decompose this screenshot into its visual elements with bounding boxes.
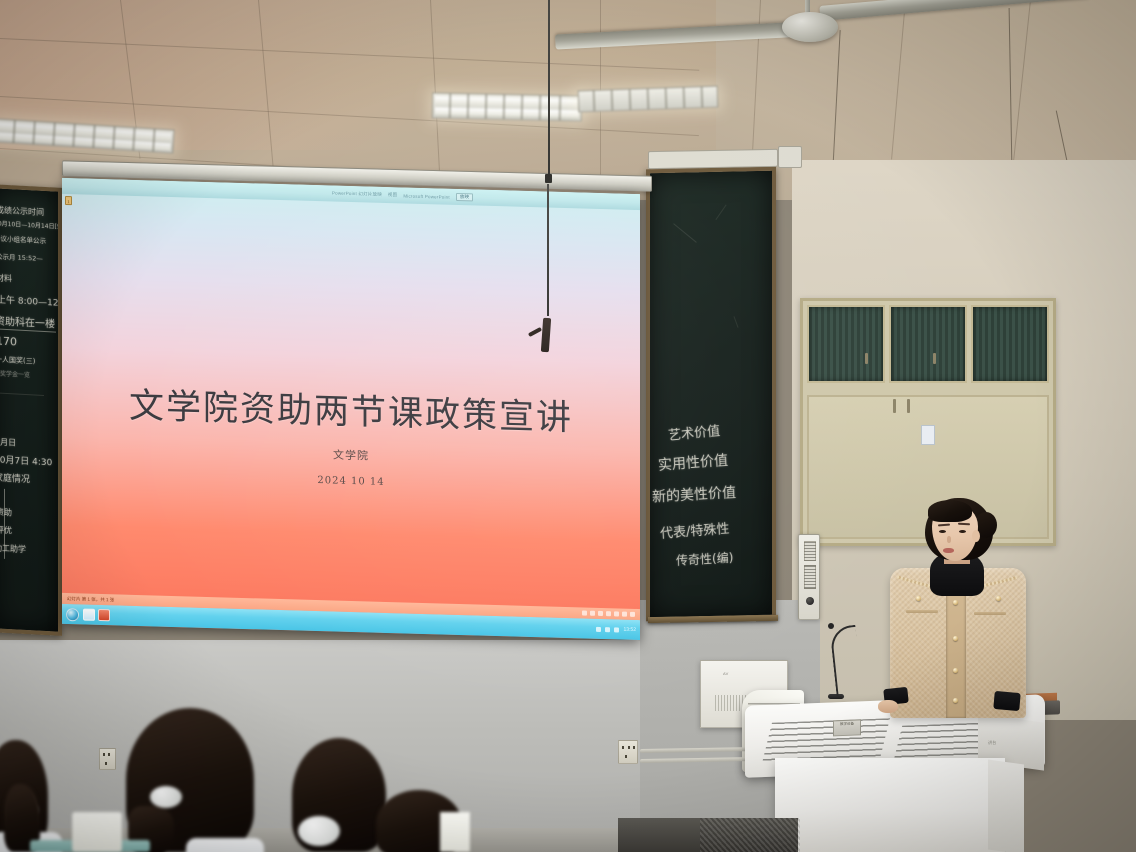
chalk-line: 评议小组名单公示 xyxy=(0,232,46,245)
chalk-line: 170 xyxy=(0,334,17,348)
ceiling-tile-line xyxy=(600,0,601,175)
chalk-line: 实用性价值 xyxy=(658,450,729,475)
jacket-button xyxy=(953,668,958,673)
podium-label-plate: 教学设备 xyxy=(833,719,861,736)
blackboard-left: 成绩公示时间 10月10日—10月14日[5天] 评议小组名单公示 公示月 15… xyxy=(0,184,62,636)
presenter-eye xyxy=(939,530,946,533)
system-tray[interactable]: 13:52 xyxy=(596,626,636,633)
chalk-line: 成绩公示时间 xyxy=(0,204,44,218)
wall-intercom-panel[interactable] xyxy=(798,534,820,620)
projector-screen-bracket xyxy=(648,149,778,169)
chalk-line: 10月10日—10月14日[5天] xyxy=(0,218,62,231)
chalk-line: 上午 8:00—12:00 xyxy=(0,292,62,309)
slideshow-icon[interactable] xyxy=(606,611,611,616)
podium-column xyxy=(775,758,1005,852)
ceiling-fan-hub xyxy=(782,12,838,42)
toolbar-item[interactable]: 放映 xyxy=(456,193,473,201)
chalk-line: 传奇性(编) xyxy=(676,549,734,569)
browser-icon[interactable] xyxy=(83,609,95,621)
window-pane xyxy=(889,305,967,383)
window-latch[interactable] xyxy=(865,353,868,364)
normal-view-icon[interactable] xyxy=(582,610,587,615)
projection-screen: PowerPoint 幻灯片放映 视图 Microsoft PowerPoint… xyxy=(62,178,640,640)
view-controls[interactable] xyxy=(582,610,635,616)
screen-surface: PowerPoint 幻灯片放映 视图 Microsoft PowerPoint… xyxy=(62,178,640,640)
reading-view-icon[interactable] xyxy=(598,611,603,616)
presenter-cuff xyxy=(993,691,1020,711)
zoom-out-icon[interactable] xyxy=(614,611,619,616)
microphone-cable xyxy=(548,0,550,178)
student-shirt xyxy=(186,838,264,852)
slide-number-badge: 1 xyxy=(65,196,72,205)
toolbar-item[interactable]: PowerPoint 幻灯片放映 xyxy=(332,190,382,197)
chalk-line: 一人国奖(三) xyxy=(0,354,35,366)
podium-vent xyxy=(762,718,890,763)
presenter-mouth xyxy=(943,548,954,553)
presenter-ear xyxy=(972,530,980,542)
wall-notice-paper xyxy=(921,425,935,445)
jacket-button xyxy=(953,600,958,605)
hair-scrunchie xyxy=(298,816,340,846)
presenter-hand xyxy=(878,700,898,713)
volume-icon[interactable] xyxy=(605,627,610,632)
screen-mount xyxy=(778,146,802,168)
chalk-line: 资助科在一楼 xyxy=(0,312,55,330)
window-pane xyxy=(807,305,885,383)
chalk-line: 勤工助学 xyxy=(0,542,26,555)
chalk-line: 艺术价值 xyxy=(667,420,720,444)
jacket-pocket xyxy=(906,610,938,613)
chalk-line: 资助 xyxy=(0,506,12,518)
chalk-line: 评优 xyxy=(0,524,12,536)
power-outlet[interactable] xyxy=(618,740,638,764)
chalk-line: 家庭情况 xyxy=(0,470,30,485)
chalk-line: 奖学金一览 xyxy=(0,369,30,380)
chalk-line: 9月日 xyxy=(0,436,16,448)
student-notebook xyxy=(72,812,122,852)
jacket-pocket xyxy=(974,612,1006,615)
student-paper xyxy=(440,812,470,852)
chalk-line: 代表/特殊性 xyxy=(660,518,730,542)
window-pane xyxy=(971,305,1049,383)
chalk-line: 材料 xyxy=(0,272,12,284)
panel-hinge xyxy=(893,399,896,413)
blackboard-right: 艺术价值 实用性价值 新的美性价值 代表/特殊性 传奇性(编) xyxy=(646,167,776,622)
slide-counter: 幻灯片 第 1 张，共 1 张 xyxy=(67,596,114,603)
presenter-eye xyxy=(959,530,966,533)
powerpoint-icon[interactable] xyxy=(98,609,110,621)
shoulder-button xyxy=(996,596,1001,601)
shield-icon[interactable] xyxy=(614,627,619,632)
projected-slide: PowerPoint 幻灯片放映 视图 Microsoft PowerPoint… xyxy=(62,178,640,640)
ceiling-light-troffer xyxy=(432,92,583,121)
podium-side-label: 讲台 xyxy=(988,740,997,746)
presenter-hair-front xyxy=(928,500,972,522)
hair-scrunchie xyxy=(150,786,182,808)
panel-hinge xyxy=(907,399,910,413)
slide-title: 文学院资助两节课政策宣讲 xyxy=(62,375,640,442)
window-upper-sash xyxy=(807,305,1049,383)
shoulder-button xyxy=(916,596,921,601)
microphone-head xyxy=(828,623,834,629)
slide-date: 2024 10 14 xyxy=(62,468,640,495)
presenter-nose xyxy=(947,536,951,543)
slide-organization: 文学院 xyxy=(62,439,640,471)
network-icon[interactable] xyxy=(596,626,601,631)
classroom-photo: AV 成绩公示时间 10月10日—10月14日[5天] 评议小组名单公示 公示月… xyxy=(0,0,1136,852)
taskbar-clock: 13:52 xyxy=(623,627,636,633)
chalk-line: 新的美性价值 xyxy=(652,482,737,507)
step-texture xyxy=(700,818,800,852)
start-button[interactable] xyxy=(66,608,79,621)
jacket-button xyxy=(953,636,958,641)
power-outlet[interactable] xyxy=(99,748,116,770)
toolbar-item[interactable]: Microsoft PowerPoint xyxy=(403,193,450,199)
chalk-line: 公示月 15:52— xyxy=(0,250,43,262)
taskbar-pinned-apps[interactable] xyxy=(83,609,110,622)
chalk-line: 10月7日 4:30 xyxy=(0,452,52,468)
jacket-button xyxy=(953,698,958,703)
sorter-view-icon[interactable] xyxy=(590,611,595,616)
window-latch[interactable] xyxy=(933,353,936,364)
microphone-cable-clip xyxy=(545,174,552,183)
fit-icon[interactable] xyxy=(630,612,635,617)
podium-column-side xyxy=(988,759,1024,852)
zoom-in-icon[interactable] xyxy=(622,612,627,617)
microphone-cable xyxy=(547,184,549,316)
toolbar-item[interactable]: 视图 xyxy=(388,192,397,198)
